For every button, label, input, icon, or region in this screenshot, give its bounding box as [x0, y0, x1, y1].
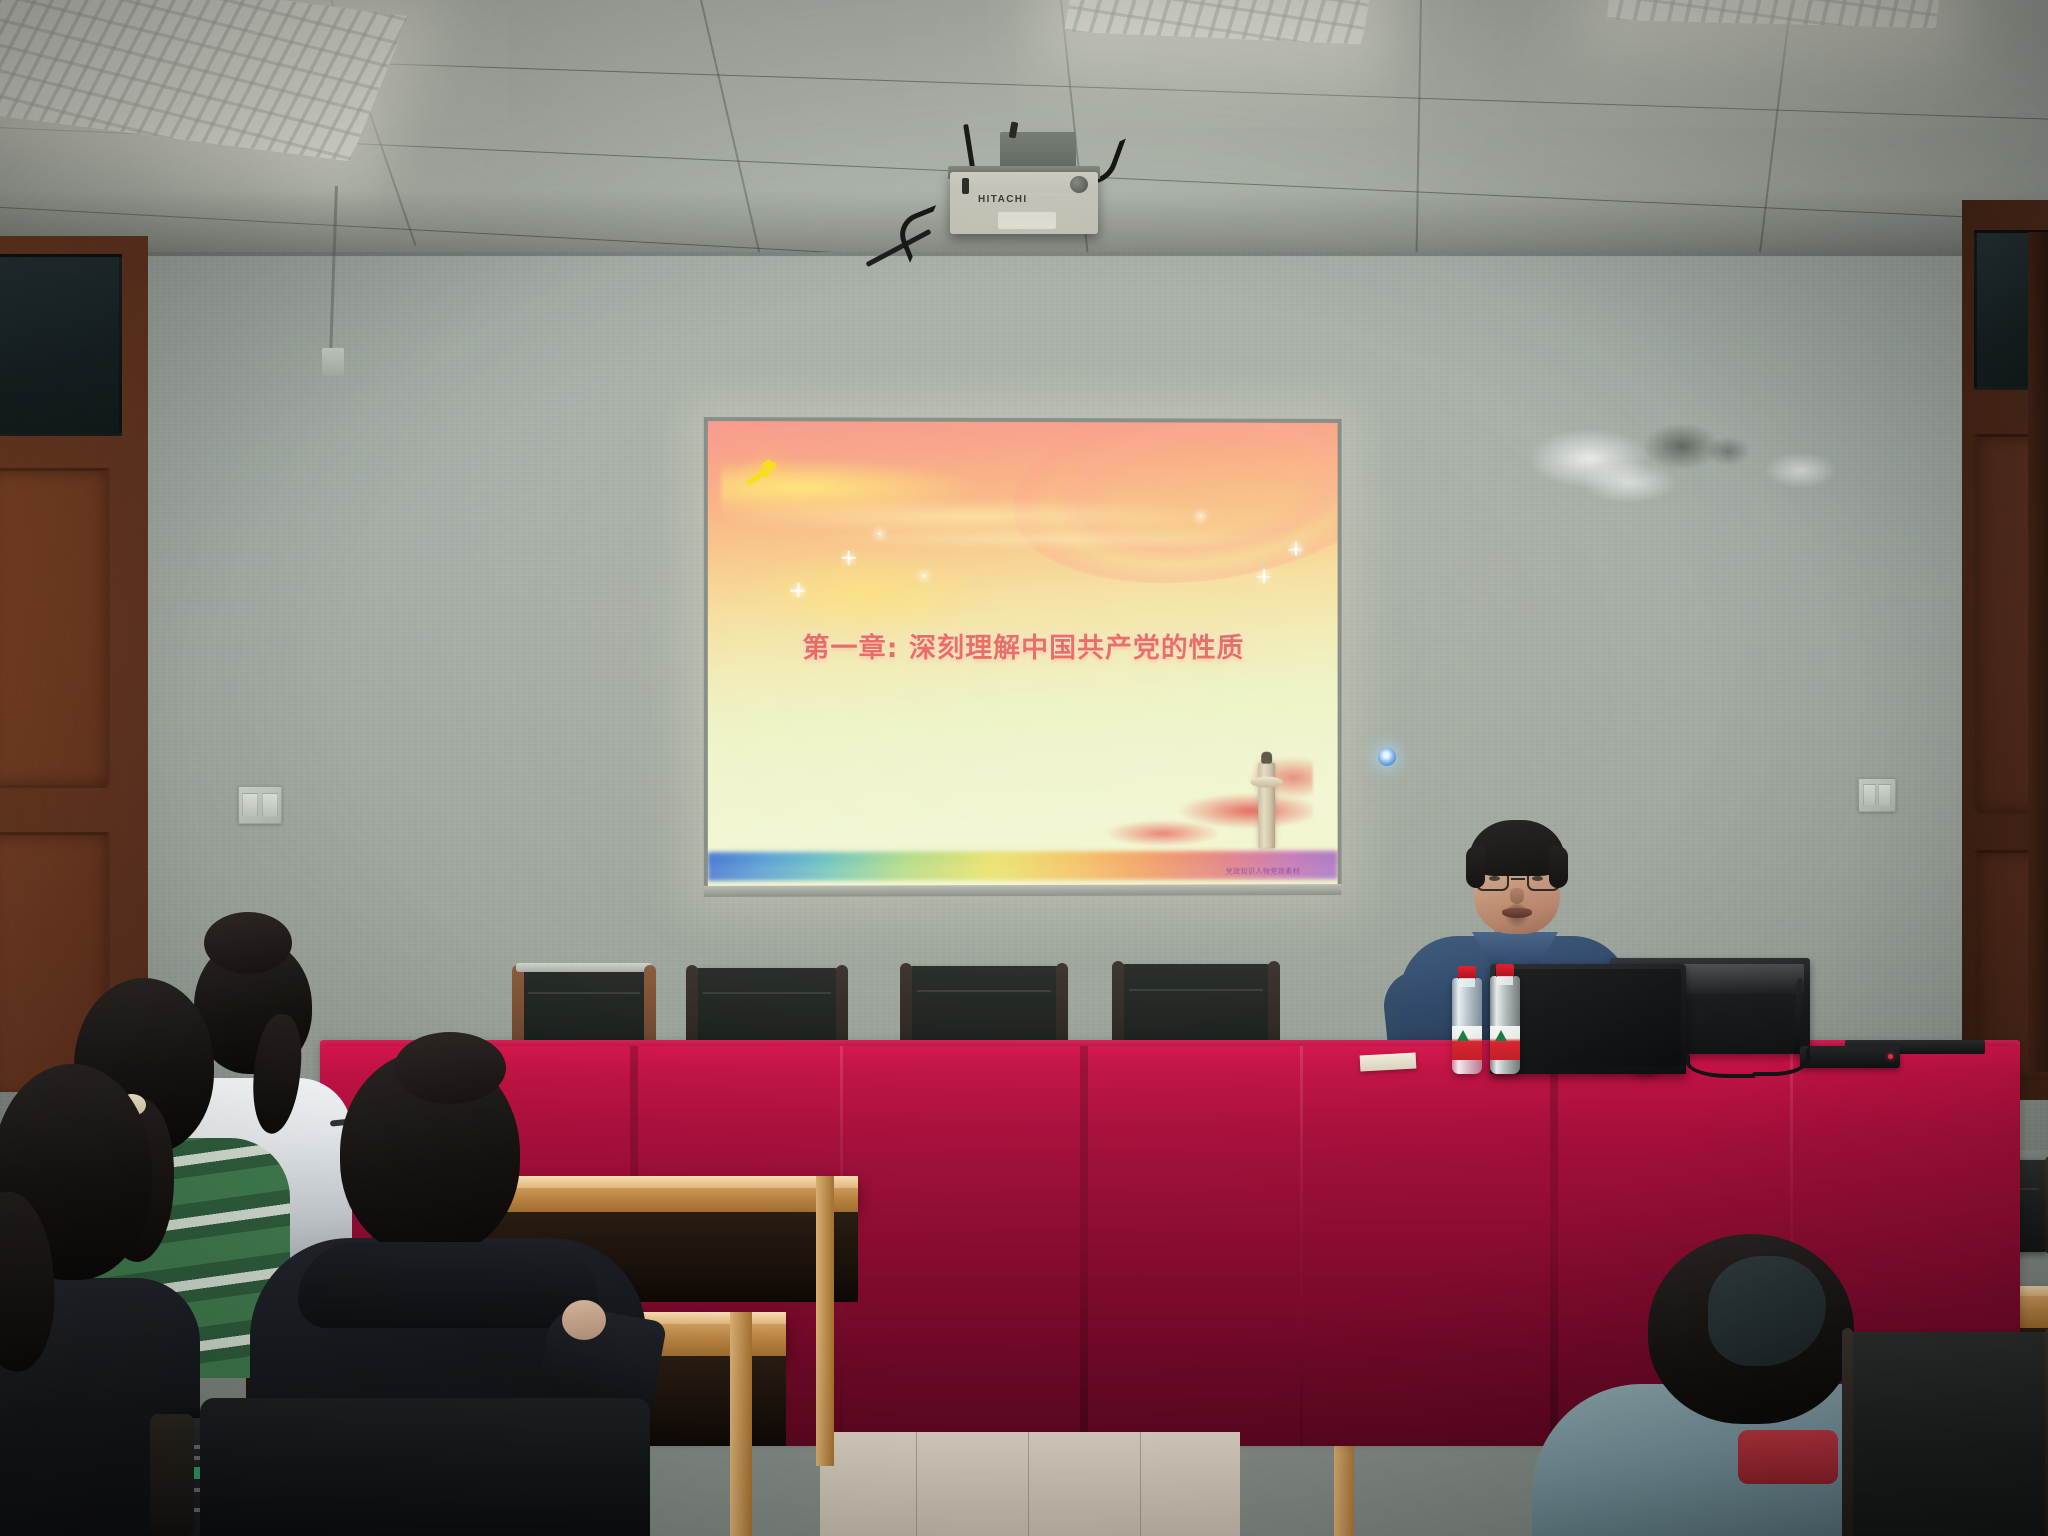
- glasses-bridge: [1511, 878, 1525, 880]
- student-inner-collar: [1738, 1430, 1838, 1484]
- water-bottle[interactable]: [1490, 976, 1520, 1074]
- cloth-fold: [1080, 1046, 1088, 1446]
- classroom-photo: HITACHI 第一章: 深刻理解中国共产党的性质: [0, 0, 2048, 1536]
- floor-tiles: [820, 1432, 1240, 1536]
- papers-on-table[interactable]: [1360, 1053, 1417, 1072]
- desk-leg: [816, 1176, 834, 1466]
- foreground-chair-back[interactable]: [200, 1398, 650, 1536]
- bottle-label: [1452, 1026, 1482, 1060]
- hoodie-hood: [298, 1242, 598, 1328]
- presenter-nose: [1510, 888, 1524, 904]
- presenter-mouth: [1502, 908, 1532, 918]
- desk-leg: [730, 1312, 752, 1536]
- cloth-fold: [1550, 1046, 1558, 1446]
- water-bottle[interactable]: [1452, 978, 1482, 1074]
- bottle-neck: [1459, 978, 1475, 987]
- chair-top-rail: [516, 963, 652, 972]
- bottle-neck: [1497, 976, 1513, 985]
- presenter-hair: [1469, 820, 1565, 876]
- student-hand: [562, 1300, 606, 1340]
- student-hair-bun: [394, 1032, 506, 1104]
- cloth-fold: [1300, 1046, 1303, 1446]
- wifi-router[interactable]: [1800, 1046, 1900, 1068]
- router-status-led: [1888, 1054, 1893, 1059]
- foreground-chair-post: [150, 1414, 194, 1536]
- bottle-label: [1490, 1026, 1520, 1060]
- chair-right-rear[interactable]: [1850, 1332, 2048, 1536]
